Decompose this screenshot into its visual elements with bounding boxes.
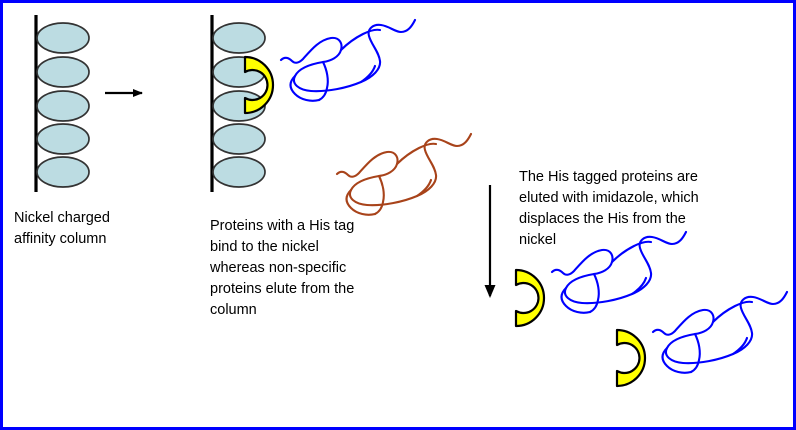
caption-protein-binding: Proteins with a His tag bind to the nick… [210,216,460,321]
stage-2-protein-binding [212,15,471,215]
caption-nickel-charged-column: Nickel charged affinity column [14,208,204,250]
his-tag-icon [617,330,645,386]
nickel-bead-group-1 [37,23,89,187]
his-tag-affinity-chromatography-figure: Nickel charged affinity column Proteins … [0,0,796,430]
his-tag-icon [516,270,544,326]
nickel-bead [213,157,265,187]
nickel-bead [213,124,265,154]
stage-1-nickel-charged-column [36,15,89,192]
eluted-complex-2 [617,292,787,386]
nickel-bead [37,157,89,187]
nickel-bead [37,23,89,53]
nickel-bead [213,23,265,53]
caption-imidazole-elution: The His tagged proteins are eluted with … [519,167,785,251]
stage-3-imidazole-elution [516,232,787,386]
nickel-bead [37,57,89,87]
his-tagged-protein-eluted-2 [653,292,787,373]
nickel-bead [37,124,89,154]
his-tagged-protein-bound [281,20,415,101]
nickel-bead [37,91,89,121]
nonspecific-protein-free [337,134,471,215]
